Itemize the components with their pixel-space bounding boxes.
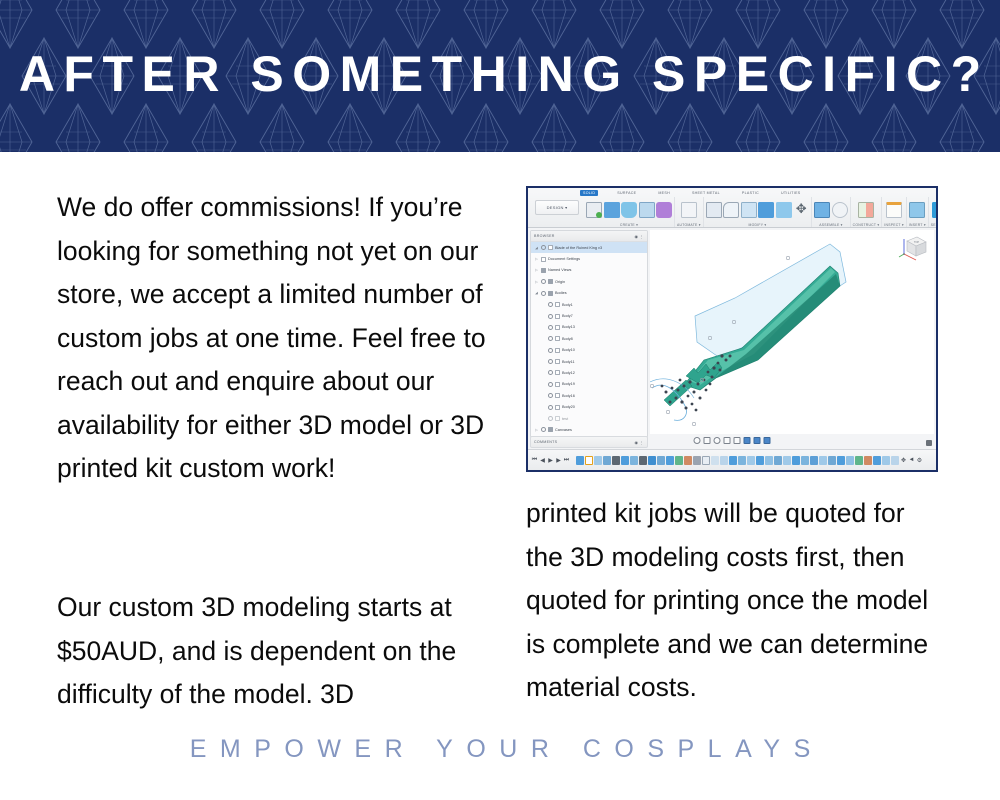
timeline-feature[interactable] bbox=[720, 456, 728, 465]
visibility-icon[interactable] bbox=[548, 382, 553, 387]
timeline-feature[interactable] bbox=[657, 456, 665, 465]
timeline-feature[interactable] bbox=[774, 456, 782, 465]
body-icon bbox=[555, 393, 560, 398]
tree-label-body: Body10 bbox=[562, 348, 575, 352]
comments-options-icon[interactable]: ◉ ⋮ bbox=[634, 440, 644, 445]
tree-row-canvases[interactable]: ▷ Canvases bbox=[531, 424, 647, 435]
timeline-feature[interactable] bbox=[684, 456, 692, 465]
capture-image-icon[interactable] bbox=[926, 440, 932, 446]
body-icon bbox=[555, 405, 560, 410]
timeline-feature[interactable] bbox=[882, 456, 890, 465]
cad-panel-automate: AUTOMATE ▾ bbox=[675, 197, 704, 227]
pan-icon[interactable] bbox=[704, 437, 711, 444]
expand-arrow-icon[interactable]: ▷ bbox=[534, 268, 539, 272]
cad-panel-modify: ✥ MODIFY ▾ bbox=[704, 197, 813, 227]
timeline-feature[interactable] bbox=[747, 456, 755, 465]
timeline-feature[interactable] bbox=[792, 456, 800, 465]
timeline-feature[interactable] bbox=[603, 456, 611, 465]
visibility-icon[interactable] bbox=[548, 416, 553, 421]
insert-canvas-icon[interactable] bbox=[909, 202, 925, 218]
body-icon bbox=[555, 325, 560, 330]
cad-browser-header: BROWSER ◉ ⋮ bbox=[531, 231, 647, 242]
timeline-feature[interactable] bbox=[729, 456, 737, 465]
press-pull-icon[interactable] bbox=[706, 202, 722, 218]
chamfer-icon[interactable] bbox=[741, 202, 757, 218]
cad-panel-label-modify: MODIFY ▾ bbox=[749, 223, 767, 227]
body-icon bbox=[555, 416, 560, 421]
paragraph-quoting: printed kit jobs will be quoted for the … bbox=[526, 492, 946, 710]
visibility-icon[interactable] bbox=[548, 348, 553, 353]
cad-panel-insert: INSERT ▾ bbox=[907, 197, 929, 227]
cad-panel-label-inspect: INSPECT ▾ bbox=[884, 223, 904, 227]
loft-icon[interactable] bbox=[656, 202, 672, 218]
cad-comments-panel[interactable]: COMMENTS ◉ ⋮ bbox=[530, 436, 648, 448]
cad-comments-label: COMMENTS bbox=[534, 440, 557, 444]
skip-to-end-icon[interactable]: ⏭ bbox=[563, 456, 570, 464]
timeline-feature[interactable] bbox=[675, 456, 683, 465]
fusion360-screenshot: SOLID SURFACE MESH SHEET METAL PLASTIC U… bbox=[526, 186, 938, 472]
visibility-icon[interactable] bbox=[541, 279, 546, 284]
visibility-icon[interactable] bbox=[541, 245, 546, 250]
body-icon bbox=[555, 382, 560, 387]
tree-label-body: test bbox=[562, 417, 568, 421]
timeline-feature[interactable] bbox=[612, 456, 620, 465]
timeline-feature[interactable] bbox=[783, 456, 791, 465]
tree-row-body[interactable]: Body11 bbox=[531, 356, 647, 367]
cad-tab-mesh[interactable]: MESH bbox=[655, 190, 673, 196]
cad-ribbon-panels: CREATE ▾ AUTOMATE ▾ ✥ bbox=[584, 197, 934, 226]
tree-label-body: Body12 bbox=[562, 371, 575, 375]
tree-label-root: Blade of the Ruined King v3 bbox=[555, 246, 602, 250]
cad-panel-label-construct: CONSTRUCT ▾ bbox=[853, 223, 880, 227]
joint-icon[interactable] bbox=[832, 202, 848, 218]
timeline-feature[interactable] bbox=[702, 456, 710, 465]
visibility-icon[interactable] bbox=[548, 325, 553, 330]
fit-icon[interactable] bbox=[724, 437, 731, 444]
cad-ribbon-tabs: SOLID SURFACE MESH SHEET METAL PLASTIC U… bbox=[580, 188, 803, 197]
automate-icon[interactable] bbox=[681, 202, 697, 218]
viewports-icon[interactable] bbox=[764, 437, 771, 444]
cad-panel-label-assemble: ASSEMBLE ▾ bbox=[819, 223, 842, 227]
timeline-move-icon[interactable]: ✥ bbox=[900, 456, 907, 464]
cad-panel-label-create: CREATE ▾ bbox=[620, 223, 638, 227]
timeline-feature[interactable] bbox=[711, 456, 719, 465]
cad-browser-title: BROWSER bbox=[534, 234, 555, 238]
tree-label-body: Body7 bbox=[562, 314, 573, 318]
header-banner: AFTER SOMETHING SPECIFIC? bbox=[0, 0, 1000, 152]
body-icon bbox=[555, 336, 560, 341]
tree-label-named-views: Named Views bbox=[548, 268, 571, 272]
paragraph-pricing: Our custom 3D modeling starts at $50AUD,… bbox=[57, 586, 503, 717]
tree-row-body[interactable]: Body16 bbox=[531, 390, 647, 401]
timeline-feature[interactable] bbox=[810, 456, 818, 465]
cad-panel-label-insert: INSERT ▾ bbox=[909, 223, 926, 227]
draft-icon[interactable] bbox=[776, 202, 792, 218]
cad-timeline: ⏮ ◀ ▶ ▶ ⏭ bbox=[528, 449, 936, 470]
timeline-feature[interactable] bbox=[891, 456, 899, 465]
timeline-feature[interactable] bbox=[765, 456, 773, 465]
timeline-feature[interactable] bbox=[666, 456, 674, 465]
timeline-feature[interactable] bbox=[873, 456, 881, 465]
cad-tab-solid[interactable]: SOLID bbox=[580, 190, 598, 196]
expand-arrow-icon[interactable]: ◢ bbox=[534, 291, 539, 295]
slide-page: AFTER SOMETHING SPECIFIC? We do offer co… bbox=[0, 0, 1000, 800]
visibility-icon[interactable] bbox=[548, 393, 553, 398]
cad-panel-label-automate: AUTOMATE ▾ bbox=[677, 223, 701, 227]
tree-row-body[interactable]: Body8 bbox=[531, 333, 647, 344]
body-icon bbox=[555, 370, 560, 375]
canvases-icon bbox=[548, 427, 553, 432]
cad-panel-label-select: SELECT ▾ bbox=[931, 223, 938, 227]
settings-icon bbox=[541, 257, 546, 262]
timeline-feature[interactable] bbox=[855, 456, 863, 465]
tree-label-body: Body16 bbox=[562, 394, 575, 398]
tree-row-root[interactable]: ◢ Blade of the Ruined King v3 bbox=[531, 242, 647, 253]
tree-row-origin[interactable]: ▷ Origin bbox=[531, 276, 647, 287]
visibility-icon[interactable] bbox=[548, 405, 553, 410]
tree-row-body[interactable]: Body19 bbox=[531, 379, 647, 390]
step-forward-icon[interactable]: ▶ bbox=[555, 456, 562, 464]
tree-label-body: Body19 bbox=[562, 382, 575, 386]
body-icon bbox=[555, 348, 560, 353]
tree-row-named-views[interactable]: ▷ Named Views bbox=[531, 265, 647, 276]
timeline-feature[interactable] bbox=[801, 456, 809, 465]
measure-icon[interactable] bbox=[886, 202, 902, 218]
tree-row-body[interactable]: Body13 bbox=[531, 322, 647, 333]
timeline-feature[interactable] bbox=[594, 456, 602, 465]
visibility-icon[interactable] bbox=[548, 314, 553, 319]
viewcube-icon[interactable]: TOP bbox=[896, 233, 930, 263]
new-sketch-icon[interactable] bbox=[586, 202, 602, 218]
expand-arrow-icon[interactable]: ▷ bbox=[534, 280, 539, 284]
browser-options-icon[interactable]: ◉ ⋮ bbox=[634, 234, 644, 239]
svg-text:TOP: TOP bbox=[914, 240, 920, 244]
extrude-icon[interactable] bbox=[604, 202, 620, 218]
cad-tab-plastic[interactable]: PLASTIC bbox=[739, 190, 762, 196]
timeline-feature[interactable] bbox=[828, 456, 836, 465]
visibility-icon[interactable] bbox=[541, 291, 546, 296]
revolve-icon[interactable] bbox=[621, 202, 637, 218]
step-back-icon[interactable]: ◀ bbox=[539, 456, 546, 464]
body-icon bbox=[555, 359, 560, 364]
tree-row-body[interactable]: Body20 bbox=[531, 401, 647, 412]
tree-label-body: Body1 bbox=[562, 303, 573, 307]
workspace-switcher-button[interactable]: DESIGN ▾ bbox=[535, 200, 579, 215]
origin-icon bbox=[548, 279, 553, 284]
timeline-feature[interactable] bbox=[864, 456, 872, 465]
cad-navigation-bar bbox=[694, 437, 771, 444]
tree-row-body[interactable]: test bbox=[531, 413, 647, 424]
tree-label-body: Body8 bbox=[562, 337, 573, 341]
tree-label-document-settings: Document Settings bbox=[548, 257, 580, 261]
timeline-feature[interactable] bbox=[819, 456, 827, 465]
move-copy-icon[interactable]: ✥ bbox=[793, 202, 809, 218]
tree-label-body: Body20 bbox=[562, 405, 575, 409]
body-icon bbox=[555, 314, 560, 319]
paragraph-commissions: We do offer commissions! If you’re looki… bbox=[57, 186, 503, 491]
tree-row-body[interactable]: Body10 bbox=[531, 345, 647, 356]
play-icon[interactable]: ▶ bbox=[547, 456, 554, 464]
page-title: AFTER SOMETHING SPECIFIC? bbox=[0, 0, 1000, 152]
tree-label-bodies: Bodies bbox=[555, 291, 567, 295]
timeline-feature[interactable] bbox=[585, 456, 593, 465]
tree-label-origin: Origin bbox=[555, 280, 565, 284]
expand-arrow-icon[interactable]: ▷ bbox=[534, 428, 539, 432]
timeline-feature[interactable] bbox=[621, 456, 629, 465]
tree-label-body: Body13 bbox=[562, 325, 575, 329]
timeline-feature[interactable] bbox=[756, 456, 764, 465]
timeline-feature[interactable] bbox=[846, 456, 854, 465]
tree-row-body[interactable]: Body1 bbox=[531, 299, 647, 310]
visibility-icon[interactable] bbox=[541, 427, 546, 432]
cad-ribbon: SOLID SURFACE MESH SHEET METAL PLASTIC U… bbox=[528, 188, 936, 228]
expand-arrow-icon[interactable]: ▷ bbox=[534, 257, 539, 261]
grid-settings-icon[interactable] bbox=[754, 437, 761, 444]
fillet-icon[interactable] bbox=[723, 202, 739, 218]
orbit-icon[interactable] bbox=[694, 437, 701, 444]
visual-style-icon[interactable] bbox=[744, 437, 751, 444]
shell-icon[interactable] bbox=[758, 202, 774, 218]
bodies-folder-icon bbox=[548, 291, 553, 296]
timeline-feature[interactable] bbox=[639, 456, 647, 465]
zoom-icon[interactable] bbox=[714, 437, 721, 444]
timeline-settings-icon[interactable]: ⚙ bbox=[916, 456, 923, 464]
display-settings-icon[interactable] bbox=[734, 437, 741, 444]
tree-row-document-settings[interactable]: ▷ Document Settings bbox=[531, 253, 647, 264]
tree-row-body[interactable]: Body12 bbox=[531, 367, 647, 378]
tree-label-body: Body11 bbox=[562, 360, 575, 364]
cad-panel-inspect: INSPECT ▾ bbox=[882, 197, 907, 227]
visibility-icon[interactable] bbox=[548, 370, 553, 375]
cad-tab-utilities[interactable]: UTILITIES bbox=[778, 190, 803, 196]
cad-panel-create: CREATE ▾ bbox=[584, 197, 675, 227]
skip-to-start-icon[interactable]: ⏮ bbox=[531, 456, 538, 464]
tree-label-canvases: Canvases bbox=[555, 428, 572, 432]
cad-panel-construct: CONSTRUCT ▾ bbox=[851, 197, 883, 227]
sword-blade-model-icon bbox=[650, 230, 934, 434]
cad-3d-canvas[interactable]: TOP bbox=[650, 230, 934, 434]
visibility-icon[interactable] bbox=[548, 302, 553, 307]
tree-row-body[interactable]: Body7 bbox=[531, 310, 647, 321]
cad-tab-surface[interactable]: SURFACE bbox=[614, 190, 639, 196]
timeline-feature[interactable] bbox=[738, 456, 746, 465]
timeline-marker-icon[interactable]: ◄ bbox=[908, 456, 915, 464]
footer-tagline: EMPOWER YOUR COSPLAYS bbox=[0, 735, 1000, 764]
timeline-feature[interactable] bbox=[837, 456, 845, 465]
construction-plane-icon[interactable] bbox=[858, 202, 874, 218]
tree-row-bodies[interactable]: ◢ Bodies bbox=[531, 288, 647, 299]
cad-browser-panel: BROWSER ◉ ⋮ ◢ Blade of the Ruined King v… bbox=[530, 230, 648, 438]
cad-panel-select: ⬉ SELECT ▾ bbox=[929, 197, 938, 227]
timeline-feature[interactable] bbox=[693, 456, 701, 465]
body-icon bbox=[555, 302, 560, 307]
cad-panel-assemble: ASSEMBLE ▾ bbox=[812, 197, 851, 227]
expand-arrow-icon[interactable]: ◢ bbox=[534, 246, 539, 250]
new-component-icon[interactable] bbox=[814, 202, 830, 218]
timeline-feature[interactable] bbox=[576, 456, 584, 465]
visibility-icon[interactable] bbox=[548, 359, 553, 364]
timeline-feature[interactable] bbox=[630, 456, 638, 465]
visibility-icon[interactable] bbox=[548, 336, 553, 341]
component-icon bbox=[548, 245, 553, 250]
select-cursor-icon[interactable]: ⬉ bbox=[932, 202, 938, 218]
views-icon bbox=[541, 268, 546, 273]
sweep-icon[interactable] bbox=[639, 202, 655, 218]
timeline-feature[interactable] bbox=[648, 456, 656, 465]
cad-tab-sheet-metal[interactable]: SHEET METAL bbox=[689, 190, 723, 196]
